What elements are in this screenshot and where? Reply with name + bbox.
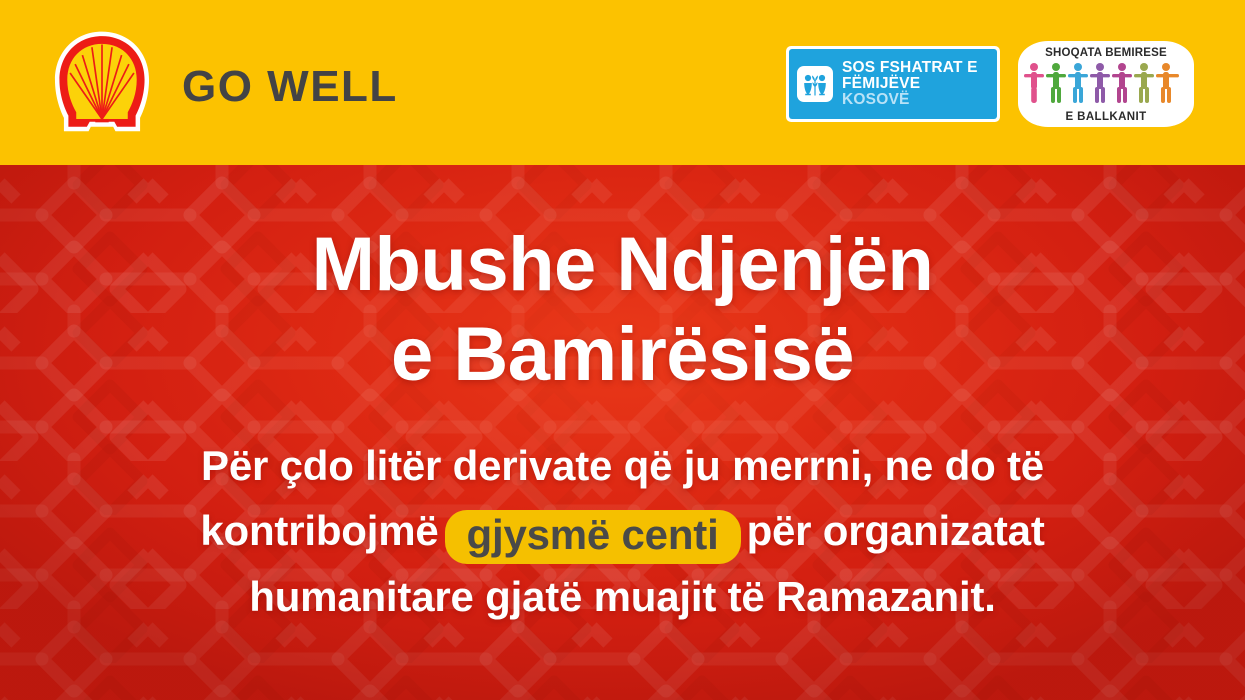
sos-partner-logo: SOS FSHATRAT E FËMIJËVE KOSOVË (786, 46, 1000, 122)
main-stage: Mbushe Ndjenjën e Bamirësisë Për çdo lit… (0, 165, 1245, 700)
subheadline-line-2: kontribojmëgjysmë centipër organizatat (0, 498, 1245, 564)
header-bar: GO WELL (0, 0, 1245, 165)
subheadline-line-2-after: për organizatat (747, 507, 1045, 554)
jetimat-top-text: SHOQATA BEMIRESE (1012, 47, 1200, 59)
go-well-tagline: GO WELL (182, 62, 398, 112)
sos-line-1: SOS FSHATRAT E (842, 60, 978, 76)
headline-line-1: Mbushe Ndjenjën (0, 220, 1245, 310)
sos-line-3: KOSOVË (842, 92, 978, 108)
shell-pecten-logo (46, 26, 158, 138)
jetimat-bottom-text: E BALLKANIT (1012, 111, 1200, 123)
subheadline: Për çdo litër derivate që ju merrni, ne … (0, 433, 1245, 629)
sos-children-icon (797, 66, 833, 102)
highlight-pill: gjysmë centi (445, 510, 741, 564)
subheadline-line-1: Për çdo litër derivate që ju merrni, ne … (0, 433, 1245, 498)
content-layer: Mbushe Ndjenjën e Bamirësisë Për çdo lit… (0, 165, 1245, 700)
headline-line-2: e Bamirësisë (0, 310, 1245, 400)
subheadline-line-2-before: kontribojmë (200, 507, 438, 554)
headline: Mbushe Ndjenjën e Bamirësisë (0, 220, 1245, 399)
jetimat-wordmark-figures-icon (1022, 60, 1190, 106)
promotional-banner: GO WELL (0, 0, 1245, 700)
jetimat-partner-logo: SHOQATA BEMIRESE (1012, 27, 1200, 139)
subheadline-line-3: humanitare gjatë muajit të Ramazanit. (0, 564, 1245, 629)
sos-line-2: FËMIJËVE (842, 76, 978, 92)
